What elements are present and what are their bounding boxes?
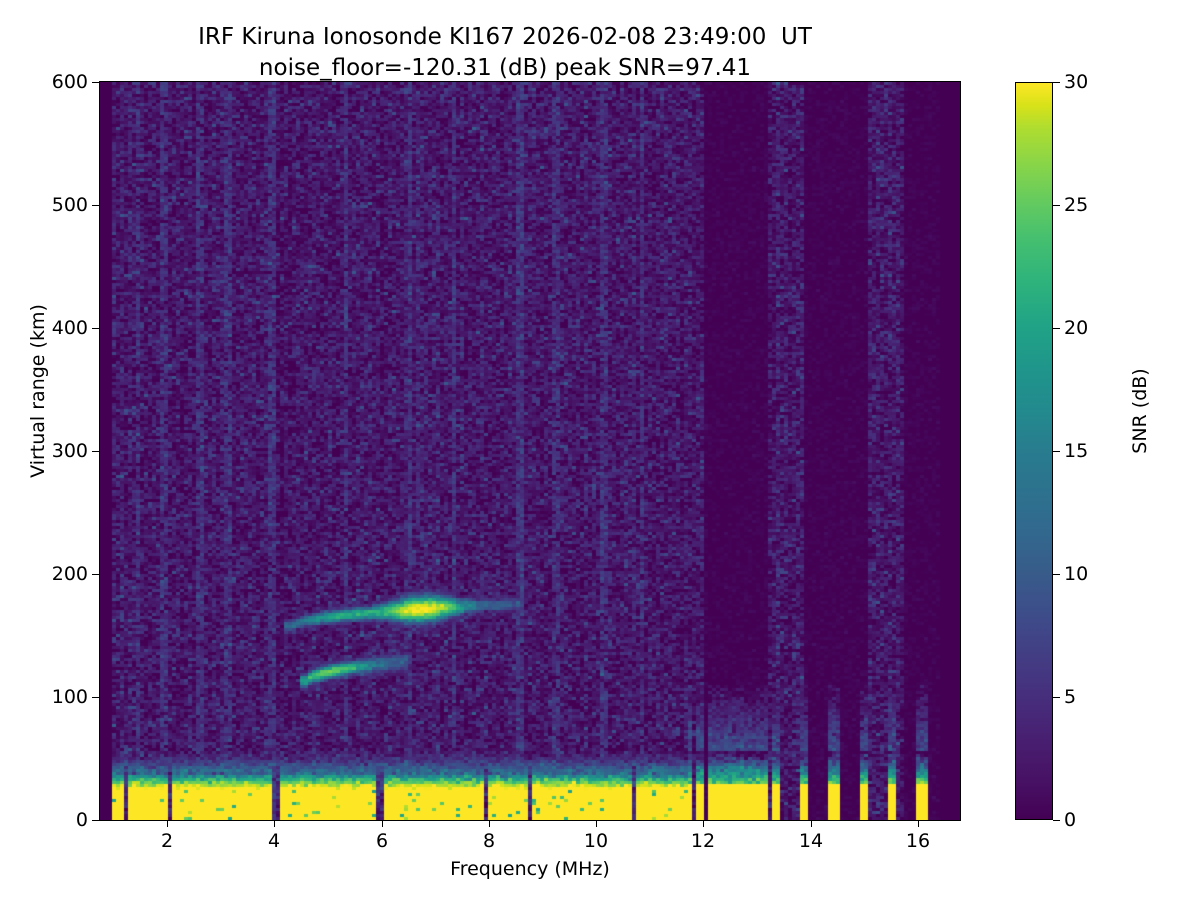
colorbar-tick-0 [1053,820,1060,821]
colorbar-tick-25 [1053,205,1060,206]
x-tick-label-4: 4 [244,830,304,852]
colorbar-label-5: 5 [1064,686,1076,708]
x-tick-2 [167,820,168,827]
y-tick-label-100: 100 [28,686,88,708]
x-axis-label: Frequency (MHz) [100,858,960,880]
x-tick-4 [274,820,275,827]
x-tick-8 [489,820,490,827]
x-tick-label-8: 8 [459,830,519,852]
y-tick-label-0: 0 [28,809,88,831]
colorbar-label-10: 10 [1064,563,1088,585]
x-tick-16 [918,820,919,827]
x-tick-12 [703,820,704,827]
ionogram-figure: IRF Kiruna Ionosonde KI167 2026-02-08 23… [0,0,1200,900]
colorbar-tick-30 [1053,82,1060,83]
y-tick-600 [92,82,99,83]
colorbar-label-15: 15 [1064,440,1088,462]
x-tick-label-16: 16 [888,830,948,852]
x-tick-label-12: 12 [673,830,733,852]
y-tick-300 [92,451,99,452]
heatmap-canvas [100,82,960,820]
ionogram-heatmap [100,82,960,820]
title-line-1: IRF Kiruna Ionosonde KI167 2026-02-08 23… [198,24,812,50]
y-tick-500 [92,205,99,206]
colorbar [1015,82,1053,820]
x-tick-label-6: 6 [352,830,412,852]
y-tick-label-500: 500 [28,194,88,216]
colorbar-label-20: 20 [1064,317,1088,339]
x-tick-14 [811,820,812,827]
colorbar-tick-10 [1053,574,1060,575]
figure-title: IRF Kiruna Ionosonde KI167 2026-02-08 23… [0,22,1010,84]
colorbar-label-30: 30 [1064,71,1088,93]
x-tick-6 [382,820,383,827]
y-axis-label: Virtual range (km) [27,261,49,521]
colorbar-title: SNR (dB) [1129,311,1151,511]
colorbar-tick-20 [1053,328,1060,329]
y-tick-200 [92,574,99,575]
y-tick-label-600: 600 [28,71,88,93]
colorbar-label-25: 25 [1064,194,1088,216]
y-tick-label-200: 200 [28,563,88,585]
colorbar-tick-15 [1053,451,1060,452]
x-tick-label-10: 10 [566,830,626,852]
colorbar-label-0: 0 [1064,809,1076,831]
y-tick-0 [92,820,99,821]
y-tick-400 [92,328,99,329]
colorbar-tick-5 [1053,697,1060,698]
x-tick-label-14: 14 [781,830,841,852]
y-tick-100 [92,697,99,698]
title-line-2: noise_floor=-120.31 (dB) peak SNR=97.41 [259,55,751,81]
x-tick-label-2: 2 [137,830,197,852]
x-tick-10 [596,820,597,827]
